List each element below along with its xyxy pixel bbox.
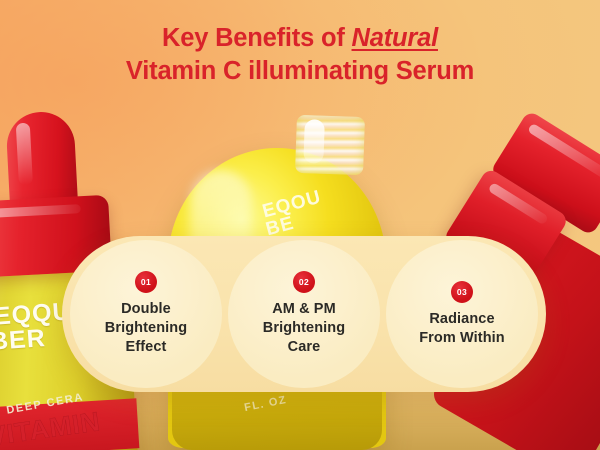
title-line-2: Vitamin C illuminating Serum	[0, 55, 600, 88]
benefit-badge-2: 02	[293, 271, 315, 293]
benefit-badge-3: 03	[451, 281, 473, 303]
center-bottle-glass-neck	[295, 115, 365, 175]
title-emphasis: Natural	[352, 24, 438, 52]
benefit-card-1[interactable]: 01 Double Brightening Effect	[70, 240, 222, 388]
title-line-1: Key Benefits of Natural	[0, 22, 600, 55]
title-prefix: Key Benefits of	[162, 24, 352, 52]
benefit-label-2: AM & PM Brightening Care	[263, 300, 345, 357]
benefit-label-3: Radiance From Within	[419, 310, 505, 348]
benefit-card-2[interactable]: 02 AM & PM Brightening Care	[228, 240, 380, 388]
promo-banner: EQOU BE FL. OZ EQQU BER DEEP CERA VITAMI…	[0, 0, 600, 450]
benefit-card-3[interactable]: 03 Radiance From Within	[386, 240, 538, 388]
page-title: Key Benefits of Natural Vitamin C illumi…	[0, 22, 600, 88]
benefit-label-1: Double Brightening Effect	[105, 300, 187, 357]
benefit-badge-1: 01	[135, 271, 157, 293]
benefits-card-list: 01 Double Brightening Effect 02 AM & PM …	[62, 236, 546, 392]
left-bottle-brand-line2: BER	[0, 324, 47, 357]
